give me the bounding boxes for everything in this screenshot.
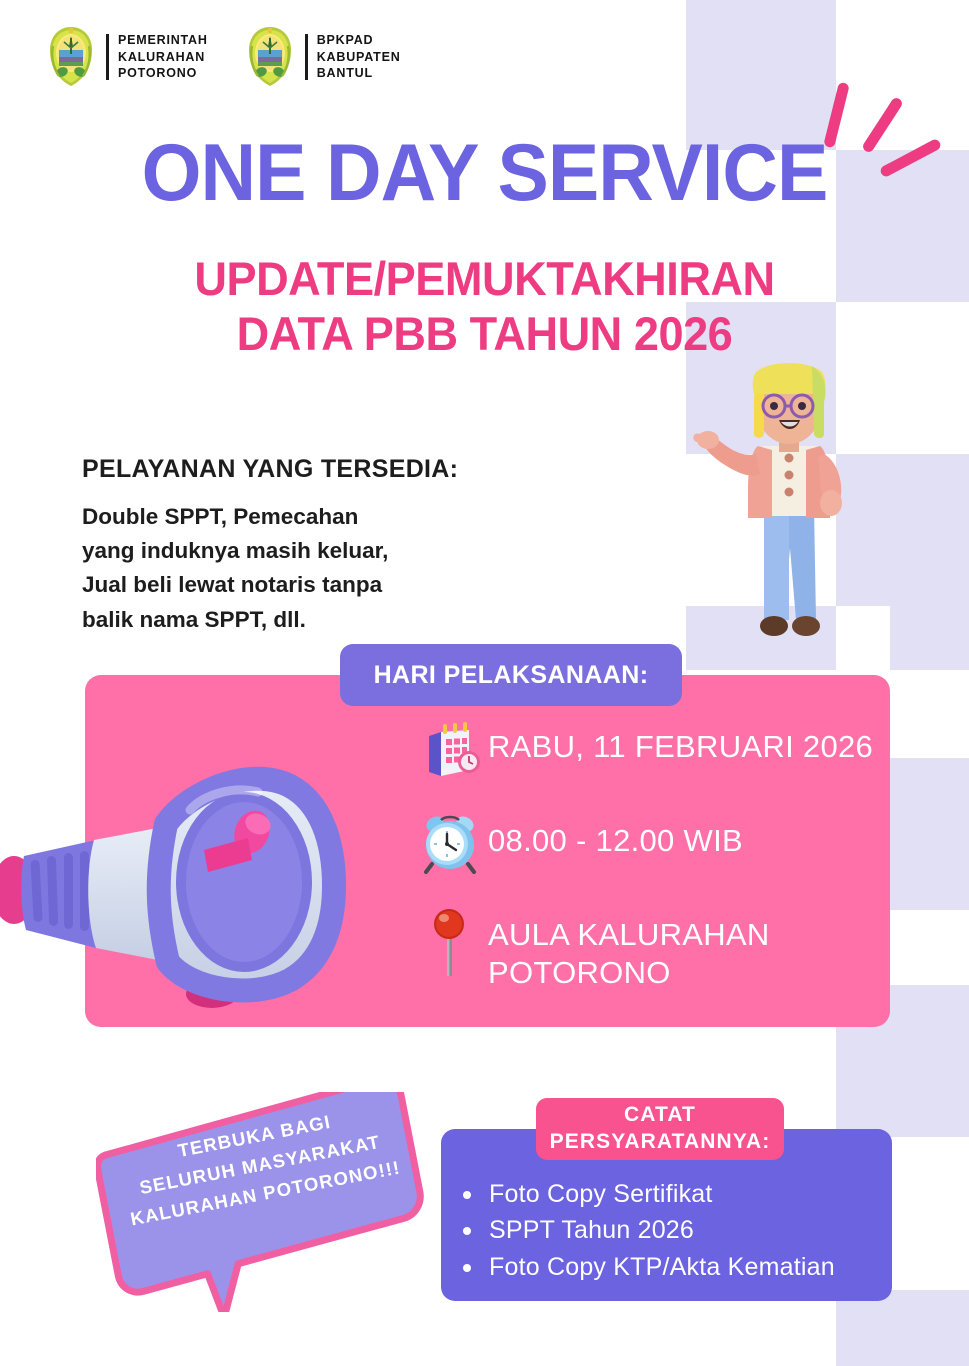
services-block: PELAYANAN YANG TERSEDIA: Double SPPT, Pe…	[82, 455, 458, 637]
event-date-text: RABU, 11 FEBRUARI 2026	[488, 718, 873, 766]
services-heading: PELAYANAN YANG TERSEDIA:	[82, 455, 458, 484]
bantul-emblem-icon	[45, 26, 97, 88]
event-row-time: 08.00 - 12.00 WIB	[412, 812, 873, 894]
list-item: Foto Copy KTP/Akta Kematian	[455, 1249, 885, 1285]
services-body: Double SPPT, Pemecahan yang induknya mas…	[82, 500, 458, 637]
speech-bubble	[96, 1092, 426, 1317]
logo-group-kalurahan: PEMERINTAH KALURAHAN POTORONO	[45, 26, 208, 88]
map-pin-icon	[412, 906, 488, 978]
page-subtitle: UPDATE/PEMUKTAKHIRAN DATA PBB TAHUN 2026	[19, 252, 949, 362]
page-title: ONE DAY SERVICE	[24, 127, 945, 220]
event-row-location: AULA KALURAHAN POTORONO	[412, 906, 873, 992]
event-badge: HARI PELAKSANAAN:	[340, 644, 682, 706]
header-logos: PEMERINTAH KALURAHAN POTORONO	[45, 26, 401, 88]
requirements-badge-line2: PERSYARATANNYA:	[550, 1129, 771, 1156]
logo-group-bpkpad: BPKPAD KABUPATEN BANTUL	[244, 26, 401, 88]
requirements-badge: CATAT PERSYARATANNYA:	[536, 1098, 784, 1160]
event-badge-label: HARI PELAKSANAAN:	[374, 661, 649, 690]
logo-label-kalurahan: PEMERINTAH KALURAHAN POTORONO	[118, 32, 208, 82]
bantul-emblem-icon	[244, 26, 296, 88]
alarm-clock-icon	[412, 812, 488, 874]
event-location-text: AULA KALURAHAN POTORONO	[488, 906, 770, 992]
logo-divider	[305, 34, 308, 80]
requirements-list: Foto Copy Sertifikat SPPT Tahun 2026 Fot…	[455, 1176, 885, 1285]
requirements-badge-line1: CATAT	[624, 1102, 696, 1129]
bg-square	[890, 758, 969, 910]
poster-canvas: PEMERINTAH KALURAHAN POTORONO	[0, 0, 969, 1366]
logo-label-bpkpad: BPKPAD KABUPATEN BANTUL	[317, 32, 401, 82]
woman-presenter-icon	[686, 358, 886, 673]
event-rows: RABU, 11 FEBRUARI 2026	[412, 718, 873, 992]
list-item: Foto Copy Sertifikat	[455, 1176, 885, 1212]
logo-divider	[106, 34, 109, 80]
bg-square	[836, 1290, 969, 1366]
calendar-icon	[412, 718, 488, 780]
event-time-text: 08.00 - 12.00 WIB	[488, 812, 743, 860]
event-row-date: RABU, 11 FEBRUARI 2026	[412, 718, 873, 800]
bg-square	[890, 606, 969, 670]
list-item: SPPT Tahun 2026	[455, 1212, 885, 1248]
megaphone-icon	[0, 690, 350, 1025]
